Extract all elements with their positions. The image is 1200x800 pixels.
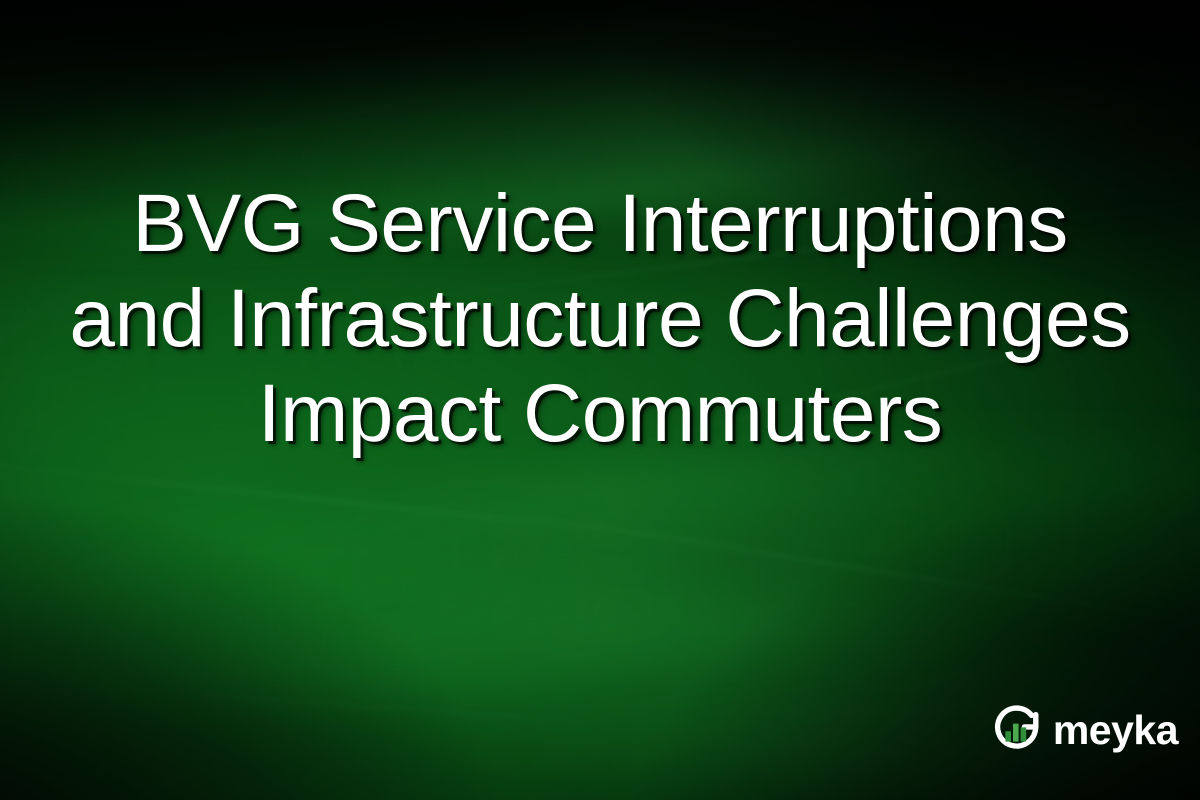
meyka-circular-bar-chart-icon	[990, 702, 1044, 756]
background-light-streak-5	[0, 675, 767, 736]
background-light-streak-4	[366, 489, 1200, 649]
slide-canvas: BVG Service Interruptions and Infrastruc…	[0, 0, 1200, 800]
brand-wordmark: meyka	[1053, 710, 1178, 751]
brand-logo[interactable]: meyka	[990, 702, 1178, 756]
background-wave-5	[0, 523, 1200, 800]
page-title: BVG Service Interruptions and Infrastruc…	[0, 176, 1200, 461]
title-line-1: BVG Service Interruptions	[40, 176, 1160, 271]
title-line-3: Impact Commuters	[40, 366, 1160, 461]
background-light-streak-3	[0, 450, 885, 560]
title-line-2: and Infrastructure Challenges	[40, 271, 1160, 366]
